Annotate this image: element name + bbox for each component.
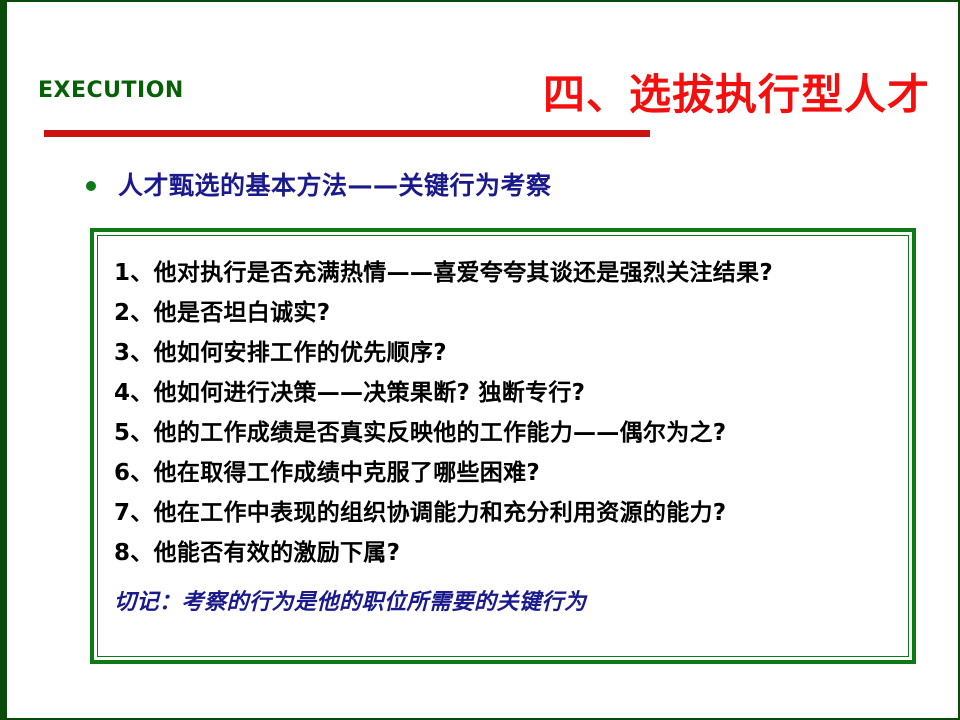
- list-item: 2、他是否坦白诚实?: [114, 302, 908, 325]
- list-item: 3、他如何安排工作的优先顺序?: [114, 342, 908, 365]
- question-list-box: 1、他对执行是否充满热情——喜爱夸夸其谈还是强烈关注结果? 2、他是否坦白诚实?…: [90, 228, 916, 664]
- left-accent-stripe: [2, 2, 7, 718]
- list-item: 5、他的工作成绩是否真实反映他的工作能力——偶尔为之?: [114, 422, 908, 445]
- slide-canvas: EXECUTION 四、选拔执行型人才 人才甄选的基本方法——关键行为考察 1、…: [0, 0, 960, 720]
- list-item: 4、他如何进行决策——决策果断? 独断专行?: [114, 382, 908, 405]
- question-list-box-inner: 1、他对执行是否充满热情——喜爱夸夸其谈还是强烈关注结果? 2、他是否坦白诚实?…: [97, 235, 909, 657]
- subtitle-text: 人才甄选的基本方法——关键行为考察: [118, 172, 552, 200]
- list-item: 7、他在工作中表现的组织协调能力和充分利用资源的能力?: [114, 502, 908, 525]
- subtitle-bullet-row: 人才甄选的基本方法——关键行为考察: [86, 172, 552, 200]
- list-item: 6、他在取得工作成绩中克服了哪些困难?: [114, 462, 908, 485]
- slide-title: 四、选拔执行型人才: [543, 72, 930, 117]
- bullet-dot-icon: [86, 181, 96, 191]
- list-item: 8、他能否有效的激励下属?: [114, 542, 908, 565]
- list-item: 1、他对执行是否充满热情——喜爱夸夸其谈还是强烈关注结果?: [114, 262, 908, 285]
- slide-kicker-label: EXECUTION: [38, 80, 184, 102]
- box-footer-note: 切记：考察的行为是他的职位所需要的关键行为: [114, 591, 908, 615]
- title-underline-rule: [44, 130, 650, 137]
